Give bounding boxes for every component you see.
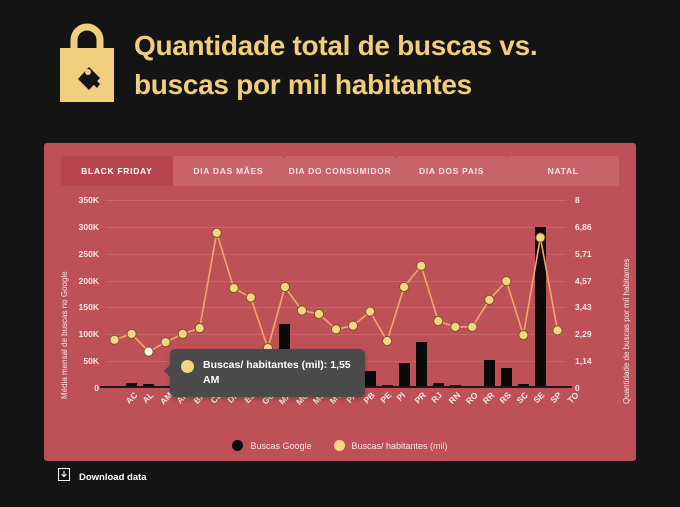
line-point[interactable] <box>161 338 170 347</box>
legend-color-swatch <box>232 440 243 451</box>
y-tick-left: 200K <box>79 277 99 286</box>
tab-label: BLACK FRIDAY <box>81 166 152 176</box>
y-axis-left-label: Média mensal de buscas no Google <box>60 271 69 399</box>
line-point[interactable] <box>451 322 460 331</box>
line-point[interactable] <box>553 326 562 335</box>
tab-label: DIA DO CONSUMIDOR <box>289 166 392 176</box>
tooltip-series-value: Buscas/ habitantes (mil): 1,55 <box>203 358 351 373</box>
line-point[interactable] <box>314 309 323 318</box>
line-point[interactable] <box>297 306 306 315</box>
y-tick-left: 150K <box>79 303 99 312</box>
x-tick-label: RS <box>498 390 513 405</box>
line-point[interactable] <box>519 331 528 340</box>
legend-label: Buscas Google <box>250 441 311 451</box>
line-point[interactable] <box>127 329 136 338</box>
tooltip-marker-dot <box>181 360 194 373</box>
tab-black-friday[interactable]: BLACK FRIDAY <box>61 156 173 186</box>
line-point[interactable] <box>110 335 119 344</box>
y-tick-right: 2,29 <box>575 330 592 339</box>
y-tick-right: 6,86 <box>575 223 592 232</box>
x-tick-label: PE <box>378 390 393 405</box>
download-data-label: Download data <box>79 472 147 483</box>
tab-natal[interactable]: NATAL <box>507 156 619 186</box>
line-point[interactable] <box>502 277 511 286</box>
chart-tooltip: Buscas/ habitantes (mil): 1,55 AM <box>170 349 365 397</box>
y-tick-left: 100K <box>79 330 99 339</box>
x-tick-label: SC <box>515 390 530 405</box>
x-tick-label: SE <box>532 390 547 405</box>
y-tick-left: 300K <box>79 223 99 232</box>
line-point[interactable] <box>212 228 221 237</box>
chart-card: BLACK FRIDAY DIA DAS MÃES DIA DO CONSUMI… <box>44 143 636 461</box>
x-tick-label: AL <box>140 390 155 405</box>
x-tick-label: RJ <box>429 390 444 405</box>
line-point[interactable] <box>246 293 255 302</box>
line-point[interactable] <box>331 325 340 334</box>
x-tick-label: RO <box>464 390 480 406</box>
line-point[interactable] <box>485 295 494 304</box>
line-point[interactable] <box>383 336 392 345</box>
chart-legend: Buscas Google Buscas/ habitantes (mil) <box>44 440 636 451</box>
line-point[interactable] <box>195 324 204 333</box>
y-tick-left: 250K <box>79 250 99 259</box>
y-tick-left: 50K <box>83 357 99 366</box>
tab-label: NATAL <box>548 166 579 176</box>
tab-label: DIA DOS PAIS <box>419 166 484 176</box>
line-point[interactable] <box>348 321 357 330</box>
y-tick-left: 350K <box>79 196 99 205</box>
download-data-link[interactable]: Download data <box>58 468 147 486</box>
line-point[interactable] <box>366 307 375 316</box>
line-point-highlighted[interactable] <box>144 347 153 356</box>
tab-dia-dos-pais[interactable]: DIA DOS PAIS <box>396 156 508 186</box>
x-tick-label: RR <box>481 390 497 406</box>
legend-item-buscas-habitantes[interactable]: Buscas/ habitantes (mil) <box>334 440 448 451</box>
line-point[interactable] <box>400 282 409 291</box>
x-tick-label: AC <box>123 390 139 406</box>
legend-label: Buscas/ habitantes (mil) <box>352 441 448 451</box>
x-tick-label: RN <box>447 390 463 406</box>
line-point[interactable] <box>536 233 545 242</box>
x-tick-label: PI <box>394 390 407 403</box>
line-point[interactable] <box>417 261 426 270</box>
line-point[interactable] <box>434 316 443 325</box>
tooltip-body: Buscas/ habitantes (mil): 1,55 AM <box>203 358 351 388</box>
y-tick-right: 3,43 <box>575 303 592 312</box>
y-tick-right: 4,57 <box>575 277 592 286</box>
y-tick-left: 0 <box>94 384 99 393</box>
line-point[interactable] <box>229 284 238 293</box>
y-tick-right: 8 <box>575 196 580 205</box>
line-point[interactable] <box>280 282 289 291</box>
x-tick-label: PR <box>413 390 428 405</box>
page-header: Quantidade total de buscas vs. buscas po… <box>0 0 680 132</box>
legend-color-swatch <box>334 440 345 451</box>
shopping-bag-icon <box>58 18 116 109</box>
line-point[interactable] <box>468 322 477 331</box>
y-tick-right: 1,14 <box>575 357 592 366</box>
tab-label: DIA DAS MÃES <box>193 166 263 176</box>
x-tick-label: SP <box>549 390 564 405</box>
tooltip-category: AM <box>203 373 351 388</box>
screenshot-root: Quantidade total de buscas vs. buscas po… <box>0 0 680 507</box>
tab-dia-das-maes[interactable]: DIA DAS MÃES <box>173 156 285 186</box>
y-tick-right: 5,71 <box>575 250 592 259</box>
line-point[interactable] <box>178 329 187 338</box>
download-icon <box>58 468 70 486</box>
tab-bar: BLACK FRIDAY DIA DAS MÃES DIA DO CONSUMI… <box>61 156 619 186</box>
y-axis-right-label: Quantidade de buscas por mil habitantes <box>622 259 631 404</box>
page-title: Quantidade total de buscas vs. buscas po… <box>134 27 624 104</box>
legend-item-buscas-google[interactable]: Buscas Google <box>232 440 311 451</box>
tab-dia-do-consumidor[interactable]: DIA DO CONSUMIDOR <box>284 156 396 186</box>
